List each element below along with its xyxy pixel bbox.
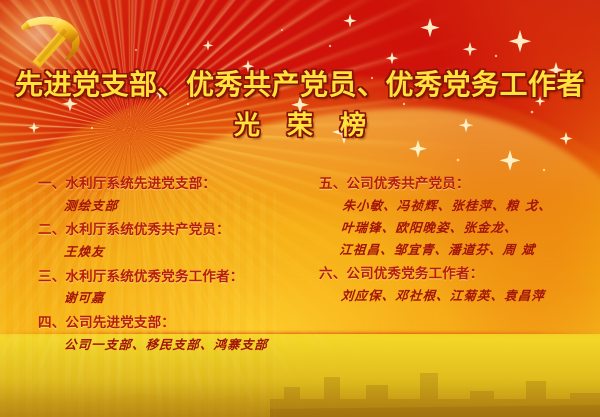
section-6-heading: 六、公司优秀党务工作者： bbox=[319, 265, 586, 285]
poster-title-sub: 光 荣 榜 bbox=[0, 112, 600, 141]
name-line: 测绘支部 bbox=[63, 195, 306, 217]
name-line: 朱小敏、冯祯辉、张桂萍、粮 戈、 bbox=[342, 195, 589, 217]
section-4-names: 公司一支部、移民支部、鸿寨支部 bbox=[37, 334, 306, 356]
section-1-names: 测绘支部 bbox=[37, 195, 306, 217]
section-3-names: 谢可嘉 bbox=[37, 287, 306, 309]
poster-title-block: 先进党支部、优秀共产党员、优秀党务工作者 光 荣 榜 bbox=[0, 70, 600, 140]
honor-roll-content: 一、水利厅系统先进党支部： 测绘支部 二、水利厅系统优秀共产党员： 王焕友 三、… bbox=[0, 175, 600, 417]
section-4: 四、公司先进党支部： 公司一支部、移民支部、鸿寨支部 bbox=[38, 314, 305, 355]
section-4-heading: 四、公司先进党支部： bbox=[38, 314, 305, 334]
section-5-names: 朱小敏、冯祯辉、张桂萍、粮 戈、 叶瑞锋、欧阳晚姿、张金龙、 江祖昌、邹宜青、潘… bbox=[317, 195, 589, 261]
right-column: 五、公司优秀共产党员： 朱小敏、冯祯辉、张桂萍、粮 戈、 叶瑞锋、欧阳晚姿、张金… bbox=[309, 175, 586, 417]
name-line: 王焕友 bbox=[63, 241, 306, 263]
poster-title-main: 先进党支部、优秀共产党员、优秀党务工作者 bbox=[0, 70, 600, 101]
section-2-heading: 二、水利厅系统优秀共产党员： bbox=[38, 221, 305, 241]
name-line: 刘应保、邓社根、江菊英、袁昌萍 bbox=[340, 285, 587, 307]
section-3: 三、水利厅系统优秀党务工作者： 谢可嘉 bbox=[38, 268, 305, 309]
section-2: 二、水利厅系统优秀共产党员： 王焕友 bbox=[38, 221, 305, 262]
section-5: 五、公司优秀共产党员： 朱小敏、冯祯辉、张桂萍、粮 戈、 叶瑞锋、欧阳晚姿、张金… bbox=[319, 175, 586, 260]
name-line: 谢可嘉 bbox=[63, 287, 306, 309]
name-line: 公司一支部、移民支部、鸿寨支部 bbox=[63, 334, 306, 356]
section-6-names: 刘应保、邓社根、江菊英、袁昌萍 bbox=[318, 285, 587, 307]
name-line: 江祖昌、邹宜青、潘道芬、周 斌 bbox=[339, 238, 586, 260]
ccp-hammer-sickle-emblem-icon bbox=[14, 6, 90, 72]
section-2-names: 王焕友 bbox=[37, 241, 306, 263]
left-column: 一、水利厅系统先进党支部： 测绘支部 二、水利厅系统优秀共产党员： 王焕友 三、… bbox=[14, 175, 309, 417]
section-1-heading: 一、水利厅系统先进党支部： bbox=[38, 175, 305, 195]
section-5-heading: 五、公司优秀共产党员： bbox=[319, 175, 586, 195]
section-6: 六、公司优秀党务工作者： 刘应保、邓社根、江菊英、袁昌萍 bbox=[319, 265, 586, 306]
section-1: 一、水利厅系统先进党支部： 测绘支部 bbox=[38, 175, 305, 216]
honor-roll-poster: 先进党支部、优秀共产党员、优秀党务工作者 光 荣 榜 一、水利厅系统先进党支部：… bbox=[0, 0, 600, 417]
name-line: 叶瑞锋、欧阳晚姿、张金龙、 bbox=[340, 216, 587, 238]
section-3-heading: 三、水利厅系统优秀党务工作者： bbox=[38, 268, 305, 288]
